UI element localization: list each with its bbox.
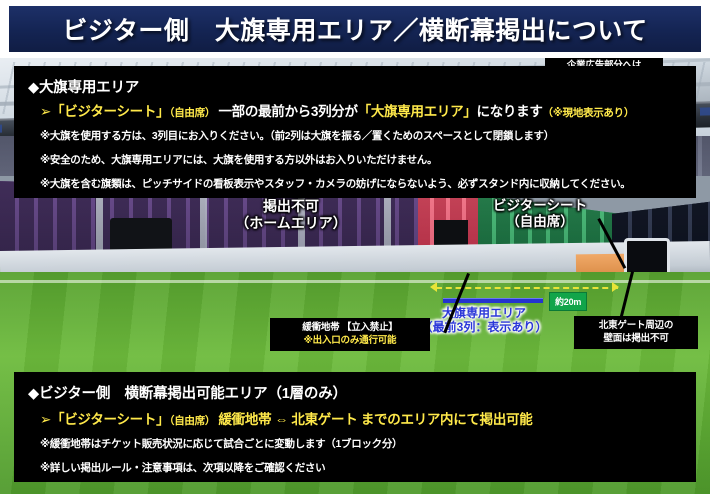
bullet-seat-type: （自由席） xyxy=(169,107,215,119)
flag-area-bullet: ➢「ビジターシート」（自由席） 一部の最前から3列分が「大旗専用エリア」になりま… xyxy=(40,100,634,120)
home-area-label: 掲出不可 （ホームエリア） xyxy=(196,198,386,232)
flag-area-heading: ◆大旗専用エリア xyxy=(28,76,139,97)
flag-area-note-2: ※安全のため、大旗専用エリアには、大旗を使用する方以外はお入りいただけません。 xyxy=(40,152,437,167)
callout-ne-gate-wall: 北東ゲート周辺の 壁面は掲出不可 xyxy=(574,316,698,349)
distance-chip: 約20m xyxy=(549,292,587,311)
visitor-area-label: ビジターシート （自由席） xyxy=(460,198,620,231)
callout-buffer-zone: 緩衝地帯 【立入禁止】 ※出入口のみ通行可能 xyxy=(270,318,430,351)
flag-area-note-1: ※大旗を使用する方は、3列目にお入りください。（前2列は大旗を振る／置くためのス… xyxy=(40,128,554,143)
bullet-annotation: （※現地表示あり） xyxy=(543,107,635,119)
pitch-touchline xyxy=(0,280,710,283)
banner-area-note-1: ※緩衝地帯はチケット販売状況に応じて試合ごとに変動します（1ブロック分） xyxy=(40,436,402,451)
home-area-label-line1: 掲出不可 xyxy=(196,198,386,215)
banner-area-bullet: ➢「ビジターシート」（自由席） 緩衝地帯 ⇔ 北東ゲート までのエリア内にて掲出… xyxy=(40,408,532,428)
banner-bullet-seat-type: （自由席） xyxy=(169,415,215,427)
banner-bullet-arrow: ⇔ xyxy=(275,412,288,427)
flag-area-note-3: ※大旗を含む旗類は、ピッチサイドの看板表示やスタッフ・カメラの妨げにならないよう… xyxy=(40,176,630,191)
bullet-quote-open: 「ビジターシート」 xyxy=(51,104,169,119)
callout-buffer-zone-line1: 緩衝地帯 【立入禁止】 xyxy=(277,322,423,335)
banner-bullet-range-from: 緩衝地帯 xyxy=(218,412,271,427)
visitor-extent-arrow-left xyxy=(430,282,437,292)
visitor-extent-arrow-right xyxy=(612,282,619,292)
banner-bullet-quote: 「ビジターシート」 xyxy=(51,412,169,427)
slide-root: 掲出不可 （ホームエリア） ビジターシート （自由席） 大旗専用エリア （最前3… xyxy=(0,0,710,494)
home-area-label-line2: （ホームエリア） xyxy=(196,215,386,232)
title-bar: ビジター側 大旗専用エリア／横断幕掲出について xyxy=(9,6,701,52)
bullet-marker: ➢ xyxy=(40,104,51,119)
bullet-area-quote: 「大旗専用エリア」 xyxy=(358,104,477,119)
bullet-main: 一部の最前から3列分が xyxy=(218,104,357,119)
banner-bullet-tail: までのエリア内にて掲出可能 xyxy=(361,412,533,427)
banner-area-note-2: ※詳しい掲出ルール・注意事項は、次項以降をご確認ください xyxy=(40,460,325,475)
banner-bullet-marker: ➢ xyxy=(40,412,51,427)
banner-area-info-panel: ◆ビジター側 横断幕掲出可能エリア（1層のみ） ➢「ビジターシート」（自由席） … xyxy=(14,372,696,482)
flag-area-info-panel: ◆大旗専用エリア ➢「ビジターシート」（自由席） 一部の最前から3列分が「大旗専… xyxy=(14,66,696,198)
banner-area-heading: ◆ビジター側 横断幕掲出可能エリア（1層のみ） xyxy=(28,382,347,403)
callout-ne-gate-wall-line2: 壁面は掲出不可 xyxy=(581,333,691,346)
bullet-tail: になります xyxy=(477,104,543,119)
callout-buffer-zone-line2: ※出入口のみ通行可能 xyxy=(277,335,423,348)
page-title: ビジター側 大旗専用エリア／横断幕掲出について xyxy=(62,11,647,47)
callout-ne-gate-wall-line1: 北東ゲート周辺の xyxy=(581,320,691,333)
visitor-area-label-line1: ビジターシート xyxy=(460,198,620,214)
visitor-area-label-line2: （自由席） xyxy=(460,214,620,230)
banner-bullet-range-to: 北東ゲート xyxy=(291,412,357,427)
